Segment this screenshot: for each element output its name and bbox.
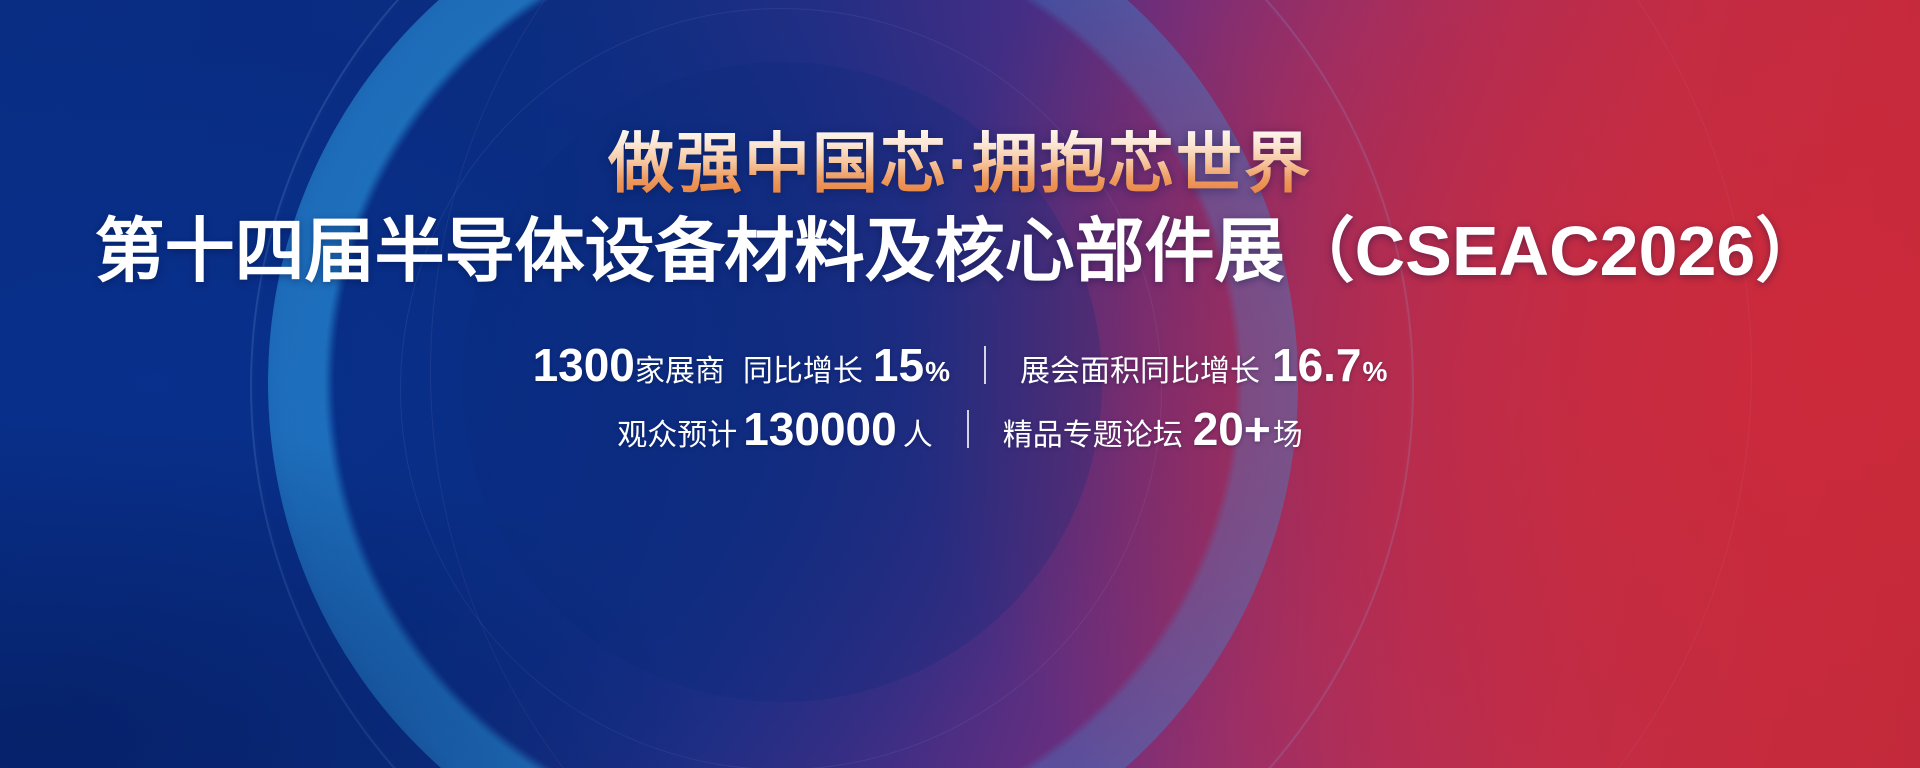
stat-visitors-unit: 人 [903,410,933,454]
stat-forums-label: 精品专题论坛 [1003,410,1183,454]
stat-forums-unit: 场 [1273,410,1303,454]
stat-visitors-label: 观众预计 [617,410,737,454]
banner-content: 做强中国芯·拥抱芯世界 第十四届半导体设备材料及核心部件展（CSEAC2026）… [0,0,1920,768]
stat-visitors: 观众预计 130000 人 [617,402,933,456]
stat-exhibitors-growth-label: 同比增长 [743,346,863,390]
stat-exhibitors-number: 1300 [533,338,635,392]
stats-divider-secondary [967,410,969,448]
stat-visitors-value: 130000 [743,402,897,456]
stat-area-label: 展会面积同比增长 [1020,346,1260,390]
stat-forums: 精品专题论坛 20+ 场 [1003,402,1303,456]
banner-title: 第十四届半导体设备材料及核心部件展（CSEAC2026） [95,216,1826,286]
stat-forums-value: 20+ [1193,402,1271,456]
stat-area: 展会面积同比增长 16.7 % [1020,338,1387,392]
stat-area-suffix: % [1363,356,1388,388]
stat-area-value: 16.7 [1272,338,1362,392]
stat-exhibitors: 1300 家展商 同比增长 15 % [533,338,950,392]
stat-exhibitors-growth-value: 15 [873,338,924,392]
banner-tagline: 做强中国芯·拥抱芯世界 [608,130,1312,196]
stat-exhibitors-unit: 家展商 [635,346,725,390]
banner-stats: 1300 家展商 同比增长 15 % 展会面积同比增长 16.7 % 观众预计 … [533,338,1388,456]
stats-row-primary: 1300 家展商 同比增长 15 % 展会面积同比增长 16.7 % [533,338,1388,392]
event-promo-banner: 做强中国芯·拥抱芯世界 第十四届半导体设备材料及核心部件展（CSEAC2026）… [0,0,1920,768]
stats-divider-primary [984,346,986,384]
stat-exhibitors-growth-suffix: % [925,356,950,388]
stats-row-secondary: 观众预计 130000 人 精品专题论坛 20+ 场 [533,402,1388,456]
